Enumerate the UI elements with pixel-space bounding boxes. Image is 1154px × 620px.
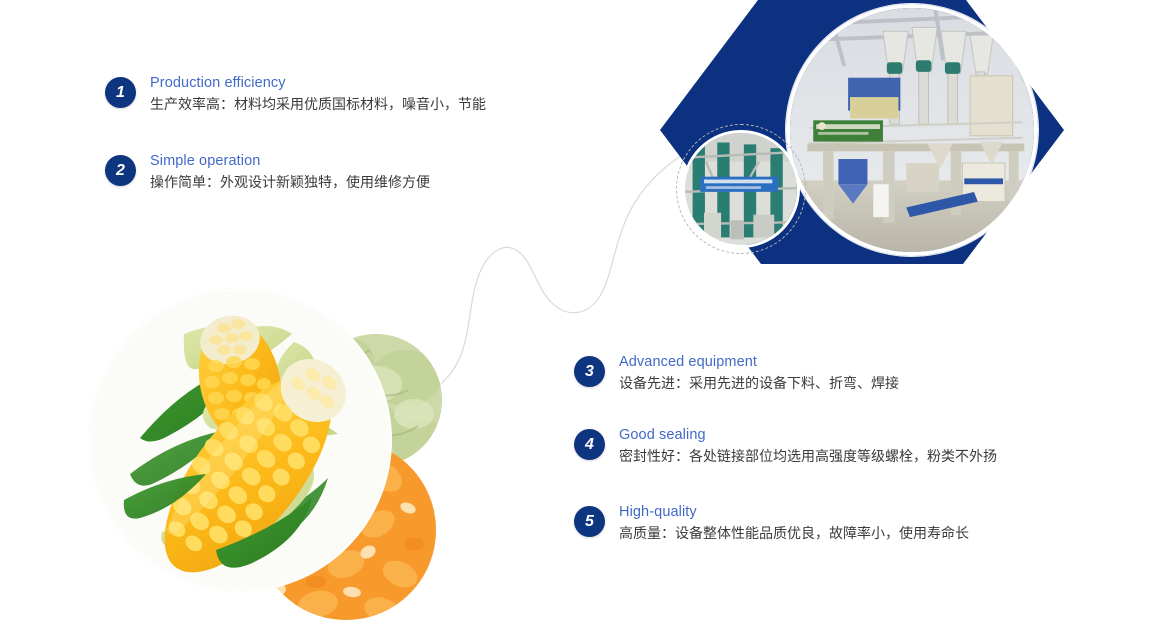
feature-text-5: High-quality 高质量：设备整体性能品质优良，故障率小，使用寿命长 — [619, 503, 969, 544]
feature-desc-1: 生产效率高：材料均采用优质国标材料，噪音小，节能 — [150, 94, 486, 115]
feature-text-4: Good sealing 密封性好：各处链接部位均选用高强度等级螺栓，粉类不外扬 — [619, 426, 997, 467]
plant-small-photo — [682, 130, 800, 248]
feature-desc-2: 操作简单：外观设计新颖独特，使用维修方便 — [150, 172, 430, 193]
feature-item-4[interactable]: 4 Good sealing 密封性好：各处链接部位均选用高强度等级螺栓，粉类不… — [574, 429, 997, 467]
feature-desc-5: 高质量：设备整体性能品质优良，故障率小，使用寿命长 — [619, 523, 969, 544]
feature-text-2: Simple operation 操作简单：外观设计新颖独特，使用维修方便 — [150, 152, 430, 193]
feature-number-badge-5: 5 — [574, 506, 605, 537]
feature-title-5: High-quality — [619, 503, 969, 522]
feature-item-1[interactable]: 1 Production efficiency 生产效率高：材料均采用优质国标材… — [105, 77, 486, 115]
feature-title-4: Good sealing — [619, 426, 997, 445]
feature-item-5[interactable]: 5 High-quality 高质量：设备整体性能品质优良，故障率小，使用寿命长 — [574, 506, 969, 544]
feature-text-1: Production efficiency 生产效率高：材料均采用优质国标材料，… — [150, 74, 486, 115]
feature-desc-4: 密封性好：各处链接部位均选用高强度等级螺栓，粉类不外扬 — [619, 446, 997, 467]
feature-item-2[interactable]: 2 Simple operation 操作简单：外观设计新颖独特，使用维修方便 — [105, 155, 430, 193]
feature-number-badge-1: 1 — [105, 77, 136, 108]
feature-title-1: Production efficiency — [150, 74, 486, 93]
feature-title-3: Advanced equipment — [619, 353, 899, 372]
feature-number-badge-4: 4 — [574, 429, 605, 460]
feature-desc-3: 设备先进：采用先进的设备下料、折弯、焊接 — [619, 373, 899, 394]
feature-text-3: Advanced equipment 设备先进：采用先进的设备下料、折弯、焊接 — [619, 353, 899, 394]
infographic-canvas: 1 Production efficiency 生产效率高：材料均采用优质国标材… — [0, 0, 1154, 591]
plant-large-photo — [786, 4, 1038, 256]
feature-title-2: Simple operation — [150, 152, 430, 171]
feature-number-badge-2: 2 — [105, 155, 136, 186]
feature-number-badge-3: 3 — [574, 356, 605, 387]
corn-main-photo — [88, 288, 392, 592]
feature-item-3[interactable]: 3 Advanced equipment 设备先进：采用先进的设备下料、折弯、焊… — [574, 356, 899, 394]
